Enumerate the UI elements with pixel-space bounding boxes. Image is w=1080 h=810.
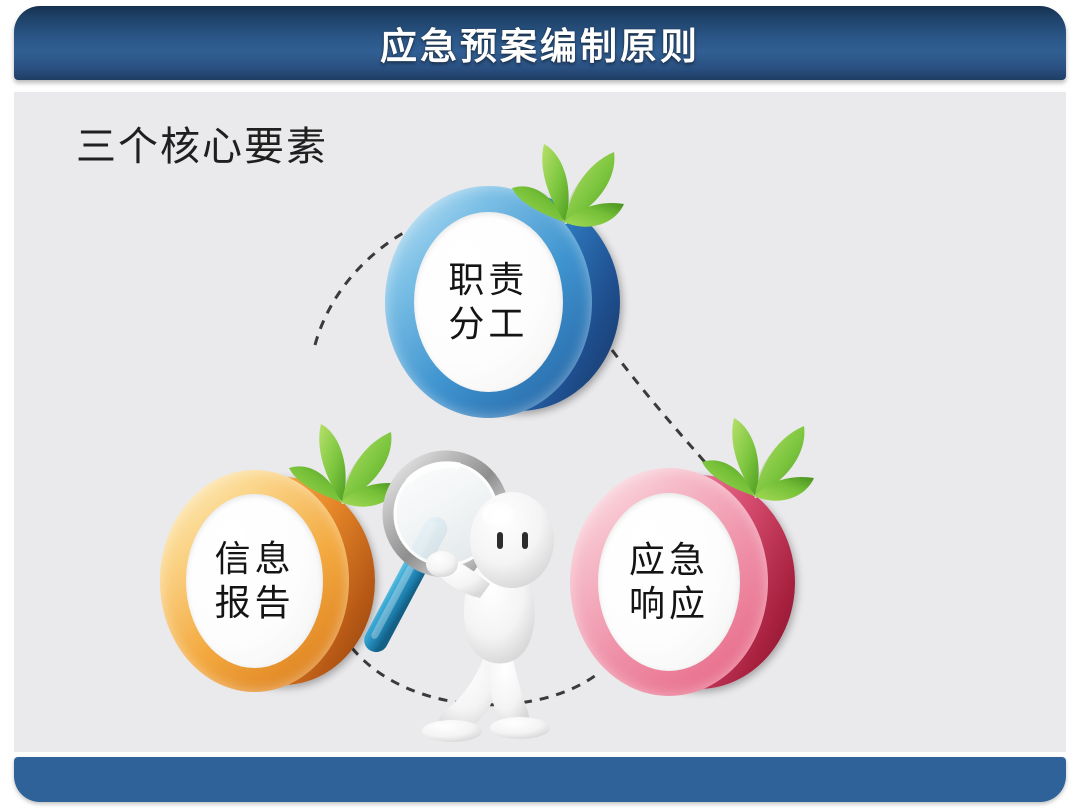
slide-root: 应急预案编制原则 三个核心要素 职责 分工 [0,0,1080,810]
slide-border [0,0,1080,810]
